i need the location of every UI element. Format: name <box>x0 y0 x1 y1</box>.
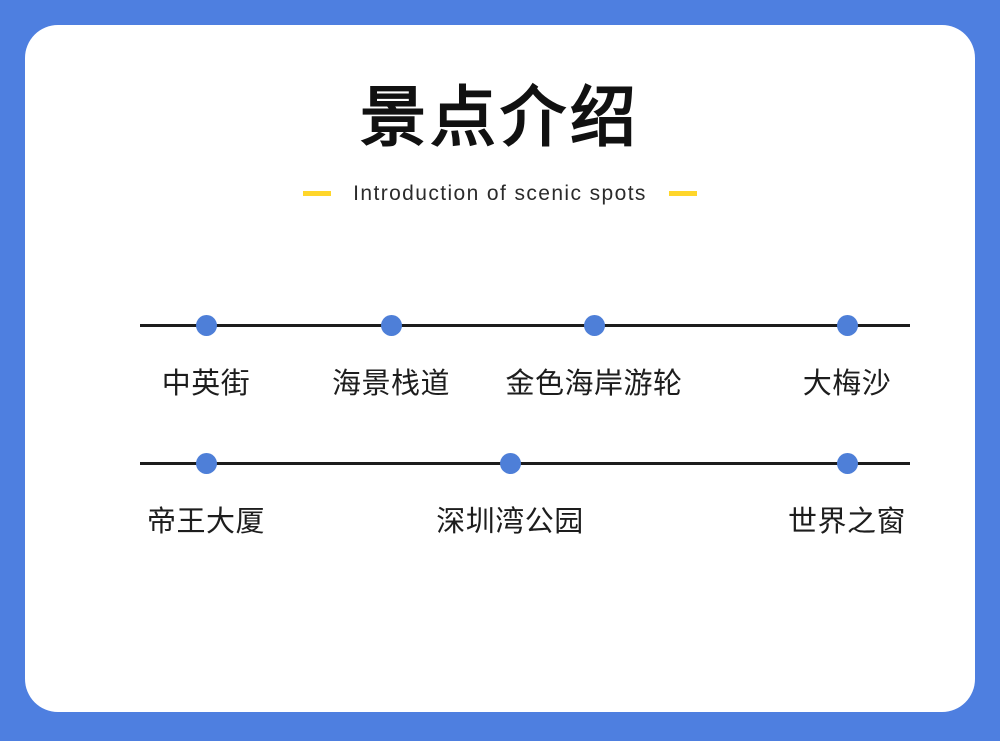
subtitle-row: Introduction of scenic spots <box>25 182 975 206</box>
dash-right-icon <box>669 191 697 196</box>
timeline-dot-icon[interactable] <box>837 315 858 336</box>
timeline-dot-icon[interactable] <box>381 315 402 336</box>
timeline-label: 深圳湾公园 <box>436 498 584 540</box>
timeline-dot-icon[interactable] <box>837 453 858 474</box>
page-subtitle: Introduction of scenic spots <box>353 182 647 206</box>
timeline-dot-icon[interactable] <box>196 315 217 336</box>
timeline-label: 中英街 <box>162 360 251 402</box>
timeline-dot-icon[interactable] <box>500 453 521 474</box>
content-card: 景点介绍 Introduction of scenic spots 中英街 海景… <box>25 25 975 712</box>
timeline-dot-icon[interactable] <box>196 453 217 474</box>
timeline-dot-icon[interactable] <box>584 315 605 336</box>
timeline-line <box>140 462 910 465</box>
timeline-line <box>140 324 910 327</box>
timeline-label: 世界之窗 <box>788 498 906 540</box>
timeline-label: 海景栈道 <box>332 360 450 402</box>
header-block: 景点介绍 Introduction of scenic spots <box>25 80 975 206</box>
page-title: 景点介绍 <box>25 80 975 156</box>
slide-canvas: 景点介绍 Introduction of scenic spots 中英街 海景… <box>0 0 1000 741</box>
dash-left-icon <box>303 191 331 196</box>
timeline-label: 金色海岸游轮 <box>505 360 682 402</box>
timeline-label: 大梅沙 <box>803 360 892 402</box>
timeline-label: 帝王大厦 <box>147 498 265 540</box>
